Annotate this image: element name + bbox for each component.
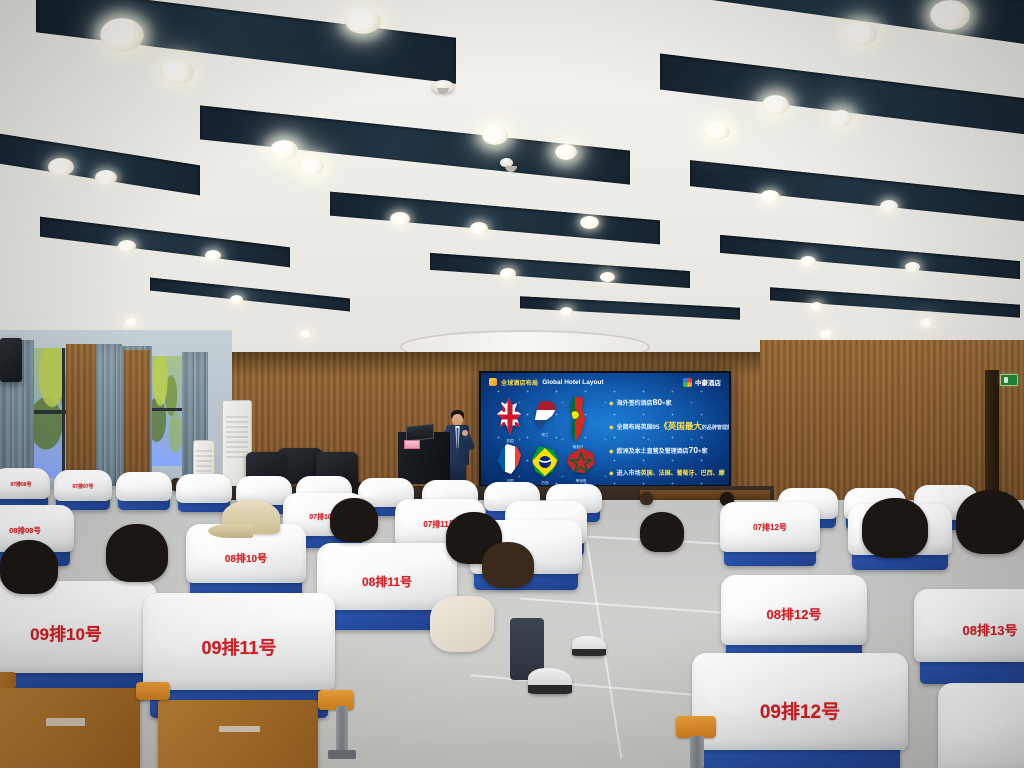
brand-logo: 中豪酒店: [683, 377, 721, 387]
seat-leg: [690, 736, 704, 768]
ceiling-light: [500, 268, 516, 279]
ceiling-slot: [770, 287, 1020, 317]
country-shape-portugal: 葡萄牙: [565, 395, 591, 443]
ceiling-light: [100, 18, 144, 52]
wall-speaker: [0, 338, 22, 382]
window-glass: [150, 356, 184, 466]
seat-number-label: 08排11号: [317, 573, 457, 590]
window-curtain: [92, 344, 122, 486]
podium-sign: [404, 440, 420, 449]
ceiling-light: [118, 240, 136, 252]
bullet-text: 全面布局英国95《英国最大的品牌管理集团之一》: [617, 420, 729, 432]
ceiling-light: [920, 318, 934, 328]
bullet-text: 欧洲及本土直营及管理酒店70+家: [617, 445, 708, 455]
seat[interactable]: [118, 474, 170, 510]
seat-cover: [176, 474, 232, 504]
exit-sign: [1000, 374, 1018, 386]
slide-badge-icon: [489, 378, 497, 386]
slide-bullet: ◆ 进入市场英国、法国、葡萄牙、巴西、摩: [609, 468, 723, 477]
ceiling-light: [930, 0, 970, 30]
seat-leg: [336, 706, 348, 754]
ceiling-light: [390, 212, 410, 226]
netherlands-flag-icon: [531, 399, 559, 431]
ceiling-light: [555, 144, 577, 160]
ceiling-light: [580, 216, 599, 229]
smoke-detector-icon: [432, 80, 454, 93]
country-shape-united-kingdom: 英国: [493, 397, 527, 437]
slide-bullet: ◆ 全面布局英国95《英国最大的品牌管理集团之一》: [609, 420, 723, 432]
baseball-cap: [222, 500, 280, 534]
seat-cover: 08排11号: [317, 543, 457, 610]
bullet-dot-icon: ◆: [609, 425, 614, 431]
seat[interactable]: 09排12号: [700, 660, 900, 768]
ceiling-light: [762, 95, 789, 115]
bullet-dot-icon: ◆: [609, 449, 614, 455]
ceiling-slot: [40, 217, 290, 268]
bullet-dot-icon: ◆: [609, 471, 614, 477]
seat-leg-foot: [328, 750, 356, 759]
seat-number-label: 07排06号: [0, 481, 50, 488]
presentation-screen-frame: 全球酒店布局 Global Hotel Layout 中豪酒店: [479, 371, 731, 487]
bullet-text: 海外签约酒店80+家: [617, 397, 672, 407]
ceiling-slot: [720, 235, 1020, 279]
seat-cover: [116, 472, 172, 502]
portugal-flag-icon: [565, 395, 591, 443]
morocco-flag-icon: [565, 445, 597, 477]
seat-number-label: 07排12号: [720, 522, 819, 533]
presenter-hand: [462, 430, 468, 436]
left-wall-wood-strip: [124, 350, 150, 482]
ceiling-light: [600, 272, 615, 282]
seat-cover: 09排10号: [0, 581, 157, 673]
country-shape-brazil: 巴西: [529, 445, 561, 479]
brazil-flag-icon: [529, 445, 561, 479]
bullet-text: 进入市场英国、法国、葡萄牙、巴西、摩: [617, 468, 725, 477]
ceiling-light: [470, 222, 488, 235]
ceiling-light: [760, 190, 780, 204]
country-shape-netherlands: 荷兰: [531, 399, 559, 431]
seat-number-label: 09排12号: [692, 697, 908, 724]
brand-text: 中豪酒店: [695, 377, 721, 387]
slide-header: 全球酒店布局 Global Hotel Layout 中豪酒店: [489, 377, 721, 387]
ceiling-light: [345, 8, 381, 34]
ceiling-slot: [520, 296, 740, 320]
seat-number-label: 08排10号: [186, 550, 307, 565]
ceiling-light: [482, 126, 508, 145]
ceiling-light: [830, 110, 852, 127]
seat-cover: 08排12号: [721, 575, 868, 646]
seat-cover: 07排07号: [54, 470, 112, 501]
smoke-detector-icon: [500, 158, 513, 167]
handbag: [430, 596, 494, 652]
ceiling-slot: [690, 160, 1024, 222]
slide-bullet-list: ◆ 海外签约酒店80+家 ◆ 全面布局英国95《英国最大的品牌管理集团之一》 ◆…: [609, 397, 723, 485]
seat[interactable]: 08排10号: [190, 528, 302, 600]
seat-number-label: 08排13号: [914, 620, 1024, 639]
ceiling-light: [705, 122, 730, 140]
ceiling: [0, 0, 1024, 360]
seat-cover: 09排12号: [692, 653, 908, 750]
left-wall-wood-strip: [66, 344, 96, 484]
seat-panel: [0, 688, 140, 768]
ceiling-light: [905, 262, 920, 272]
sneaker: [572, 636, 606, 656]
seat-cover: 09排11号: [143, 593, 335, 690]
uk-flag-icon: [493, 397, 527, 437]
seat[interactable]: 07排12号: [724, 506, 816, 566]
slide-title-cn: 全球酒店布局: [501, 378, 538, 387]
front-table: [640, 490, 770, 500]
country-shape-france: 法国: [495, 443, 525, 477]
armrest: [0, 672, 16, 688]
brand-mark-icon: [683, 378, 692, 387]
flag-caption: 荷兰: [531, 433, 559, 438]
seat[interactable]: 07排06号: [0, 470, 48, 508]
seat-panel: [158, 700, 318, 768]
ceiling-light: [95, 170, 117, 185]
seat[interactable]: 07排07号: [56, 472, 110, 510]
ceiling-light: [160, 60, 194, 84]
ceiling-light: [205, 250, 221, 261]
seat-cover: 07排12号: [720, 502, 819, 551]
france-flag-icon: [495, 443, 525, 477]
slide-bullet: ◆ 欧洲及本土直营及管理酒店70+家: [609, 445, 723, 455]
ceiling-light: [800, 256, 816, 267]
ceiling-slot: [36, 0, 456, 84]
ceiling-slot: [330, 192, 660, 245]
door-frame: [985, 370, 999, 495]
seat-number-label: 08排08号: [0, 525, 74, 536]
laptop[interactable]: [406, 424, 434, 442]
country-shape-morocco: 摩洛哥: [565, 445, 597, 477]
slide-flag-map-group: 英国 荷兰: [491, 395, 601, 479]
seat-cover: [938, 683, 1024, 768]
ceiling-light: [845, 22, 877, 46]
ceiling-light: [300, 158, 324, 175]
ceiling-light: [48, 158, 74, 176]
ceiling-light: [810, 302, 823, 311]
seat[interactable]: [178, 476, 230, 512]
armrest: [676, 716, 716, 738]
ceiling-light: [880, 200, 898, 213]
armrest: [136, 682, 170, 700]
ceiling-light: [230, 295, 243, 304]
seat-cover: 07排06号: [0, 468, 50, 499]
seat-number-label: 07排07号: [54, 483, 112, 490]
ceiling-light: [560, 307, 573, 316]
seat[interactable]: [944, 690, 1024, 768]
lecture-hall-scene: 全球酒店布局 Global Hotel Layout 中豪酒店: [0, 0, 1024, 768]
presentation-screen[interactable]: 全球酒店布局 Global Hotel Layout 中豪酒店: [481, 373, 729, 485]
seat-cover: 08排13号: [914, 589, 1024, 663]
seat-number-label: 09排11号: [143, 634, 335, 660]
seat[interactable]: 08排13号: [920, 594, 1024, 684]
ceiling-slot: [430, 253, 690, 288]
seat-number-label: 08排12号: [721, 604, 868, 623]
seat-number-label: 09排10号: [0, 620, 157, 645]
ceiling-light: [820, 330, 833, 339]
slide-title-en: Global Hotel Layout: [542, 379, 603, 386]
ceiling-light: [270, 140, 298, 160]
ceiling-light: [125, 318, 138, 327]
ceiling-slot: [150, 277, 350, 311]
slide-bullet: ◆ 海外签约酒店80+家: [609, 397, 723, 407]
seat[interactable]: 09排10号: [0, 588, 150, 700]
sneaker: [528, 668, 572, 694]
bullet-dot-icon: ◆: [609, 401, 614, 407]
ceiling-light: [300, 330, 312, 338]
ceiling-slot: [0, 131, 200, 196]
